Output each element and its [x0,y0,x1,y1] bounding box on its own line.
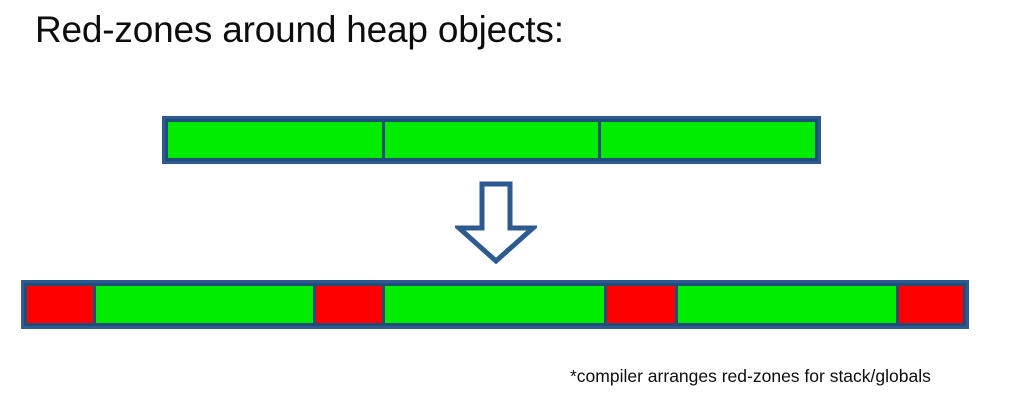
down-arrow-icon [455,181,537,265]
heap-object-segment [96,286,313,323]
heap-object-segment [385,122,599,158]
memory-bar-before [162,116,821,164]
heap-object-segment [385,286,604,323]
page-title: Red-zones around heap objects: [35,8,564,52]
slide-canvas: Red-zones around heap objects: *compiler… [0,0,1024,407]
down-arrow-shape [455,181,537,265]
heap-object-segment [168,122,382,158]
heap-object-segment [678,286,896,323]
heap-object-segment [601,122,815,158]
red-zone-segment [899,286,963,323]
red-zone-segment [607,286,675,323]
red-zone-segment [316,286,383,323]
footnote-text: *compiler arranges red-zones for stack/g… [570,365,931,387]
red-zone-segment [27,286,93,323]
memory-bar-after [21,280,969,329]
